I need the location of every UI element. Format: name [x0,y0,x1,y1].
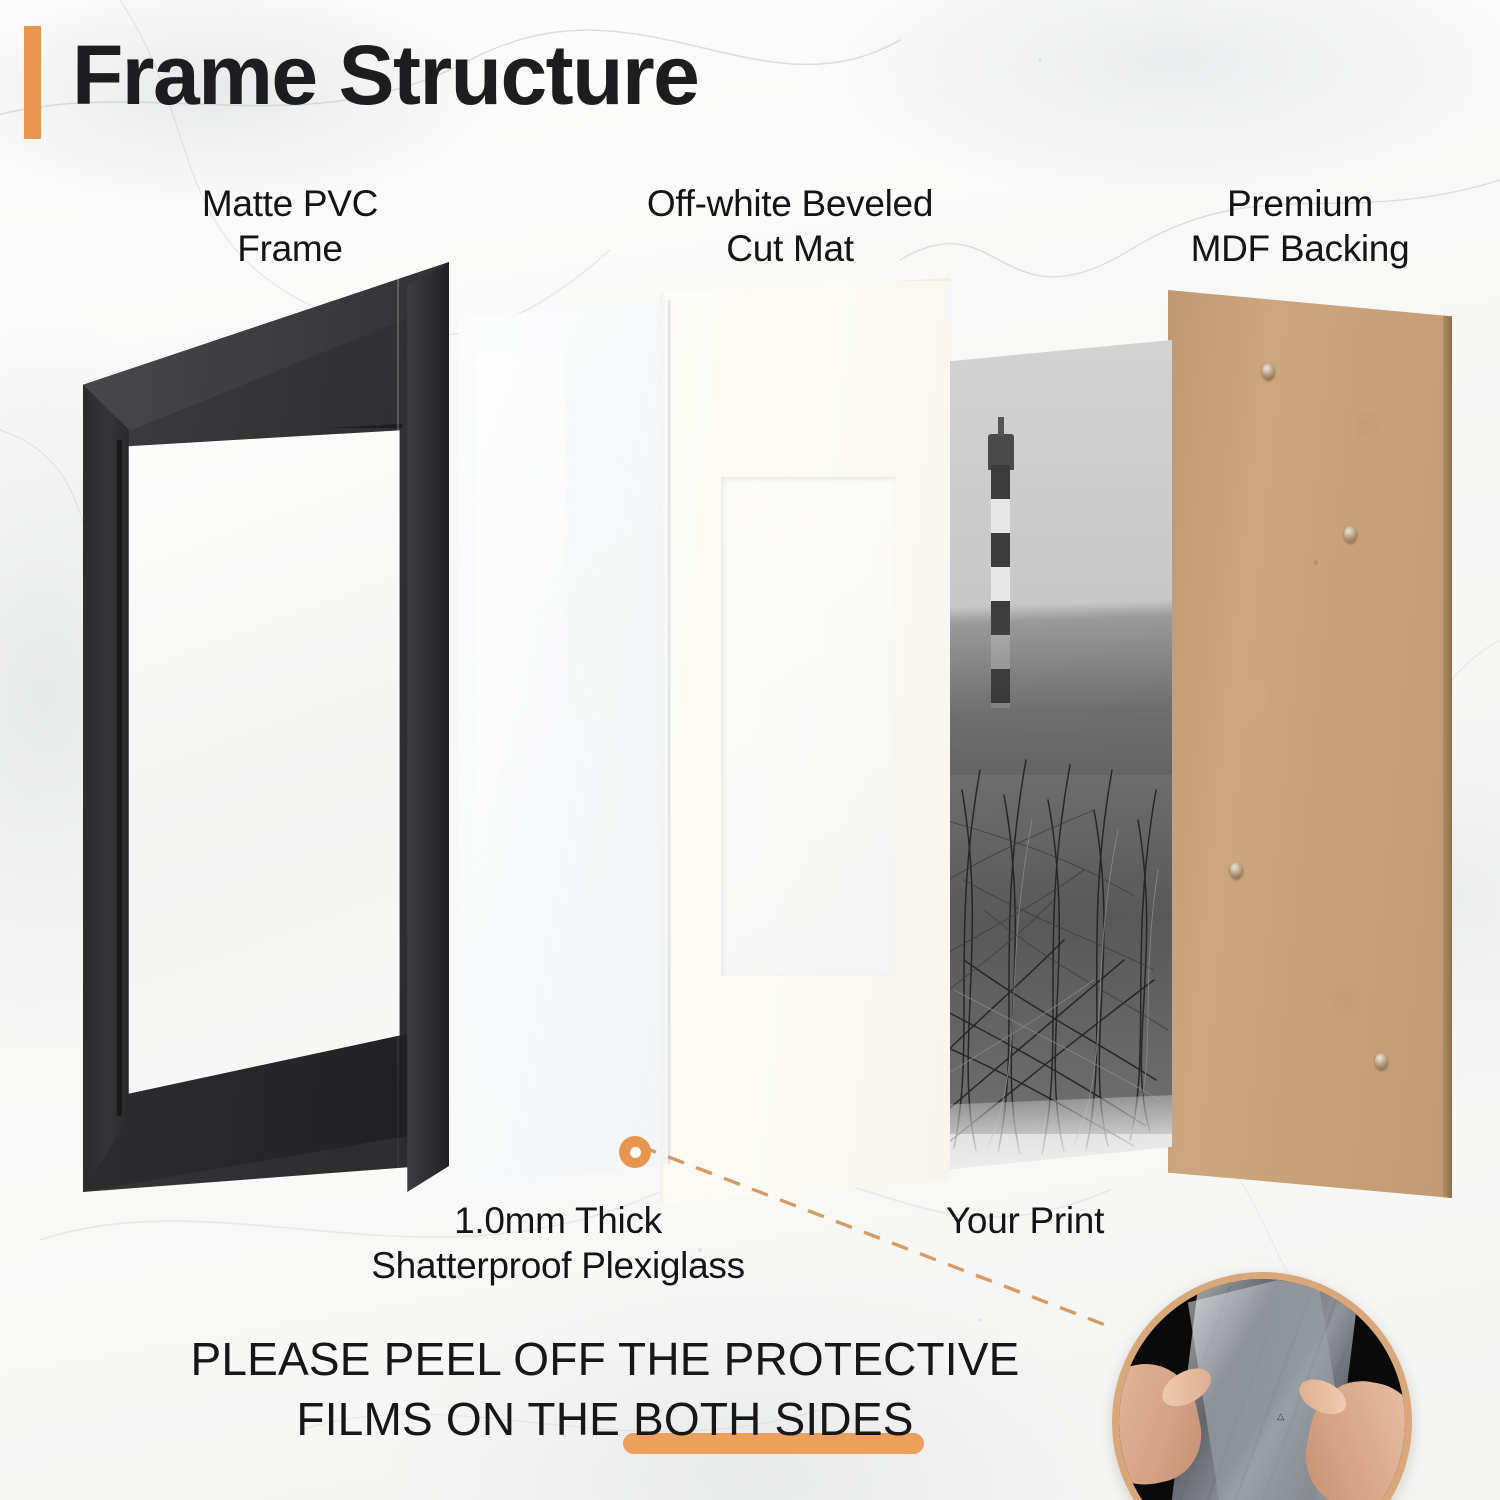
label-line-1: 1.0mm Thick [218,1198,898,1243]
callout-line-2-prefix: FILMS ON THE [296,1393,633,1445]
backing-nail [1375,1053,1388,1070]
callout-line-1: PLEASE PEEL OFF THE PROTECTIVE [150,1330,1060,1390]
label-plexiglass: 1.0mm Thick Shatterproof Plexiglass [218,1198,898,1288]
layer-cut-mat [660,278,950,1203]
label-line-1: Premium [1100,181,1500,226]
title-accent-bar [24,26,41,139]
callout-line-2: FILMS ON THE BOTH SIDES [150,1390,1060,1450]
mat-bevel [660,278,950,1203]
plexiglass-sheen [476,353,565,1134]
callout-highlighted-words: BOTH SIDES [633,1390,914,1450]
label-your-print: Your Print [840,1198,1210,1243]
label-matte-pvc-frame: Matte PVC Frame [110,181,470,271]
infographic-canvas: Frame Structure Matte PVC Frame Off-whit… [0,0,1500,1500]
label-line-2: Shatterproof Plexiglass [218,1243,898,1288]
backing-nail [1262,363,1275,380]
plexiglass-edge [668,300,671,1188]
backing-edge [1443,290,1452,1198]
label-line-1: Off-white Beveled [555,181,1025,226]
layer-pvc-frame [83,262,449,1192]
page-title: Frame Structure [72,31,698,120]
peel-film-callout: PLEASE PEEL OFF THE PROTECTIVE FILMS ON … [150,1330,1060,1450]
label-off-white-beveled-cut-mat: Off-white Beveled Cut Mat [555,181,1025,271]
label-line-2: MDF Backing [1100,226,1500,271]
backing-nail [1344,526,1357,543]
film-print-badge: △ [1268,1405,1294,1427]
right-hand [1298,1373,1412,1500]
backing-nail [1230,862,1243,879]
label-line-2: Cut Mat [555,226,1025,271]
label-line-1: Matte PVC [110,181,470,226]
connector-dot-marker [619,1136,651,1168]
layer-mdf-backing [1168,290,1452,1198]
frame-highlight [397,271,399,1173]
frame-inner-lip [117,424,402,1116]
label-premium-mdf-backing: Premium MDF Backing [1100,181,1500,271]
layer-plexiglass [459,300,671,1188]
